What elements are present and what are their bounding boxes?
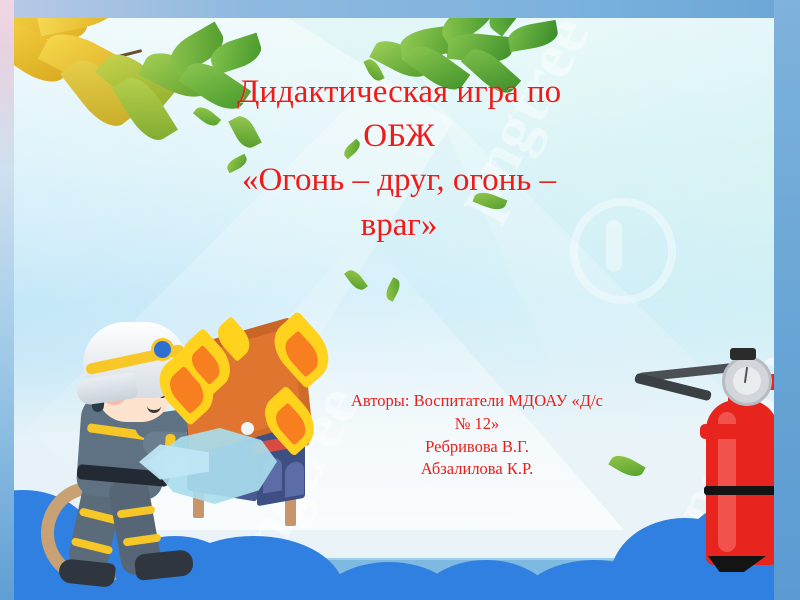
authors-line-1: Авторы: Воспитатели МДОАУ «Д/с bbox=[332, 390, 622, 413]
boot-back bbox=[58, 558, 116, 588]
slide-border-top bbox=[0, 0, 800, 18]
slide-title: Дидактическая игра по ОБЖ «Огонь – друг,… bbox=[184, 70, 614, 247]
extinguisher-strap bbox=[704, 486, 774, 495]
slide-border-left bbox=[0, 0, 14, 600]
presentation-slide: pngtree pngtree pngtree bbox=[0, 0, 800, 600]
slide-border-right bbox=[774, 0, 800, 600]
title-line-4: враг» bbox=[184, 203, 614, 247]
authors-block: Авторы: Воспитатели МДОАУ «Д/с № 12» Реб… bbox=[332, 390, 622, 481]
burning-house bbox=[169, 318, 344, 548]
fire-extinguisher bbox=[674, 350, 774, 595]
extinguisher-collar bbox=[700, 424, 774, 439]
house-window bbox=[241, 422, 254, 435]
authors-line-4: Абзалилова К.Р. bbox=[332, 458, 622, 481]
boot-front bbox=[134, 549, 194, 581]
pressure-gauge-icon bbox=[722, 356, 772, 406]
gauge-cap bbox=[730, 348, 756, 360]
title-line-3: «Огонь – друг, огонь – bbox=[184, 158, 614, 202]
slide-canvas: pngtree pngtree pngtree bbox=[14, 18, 774, 600]
title-line-1: Дидактическая игра по bbox=[184, 70, 614, 114]
authors-line-2: № 12» bbox=[332, 413, 622, 436]
authors-line-3: Ребривова В.Г. bbox=[332, 436, 622, 459]
title-line-2: ОБЖ bbox=[184, 114, 614, 158]
